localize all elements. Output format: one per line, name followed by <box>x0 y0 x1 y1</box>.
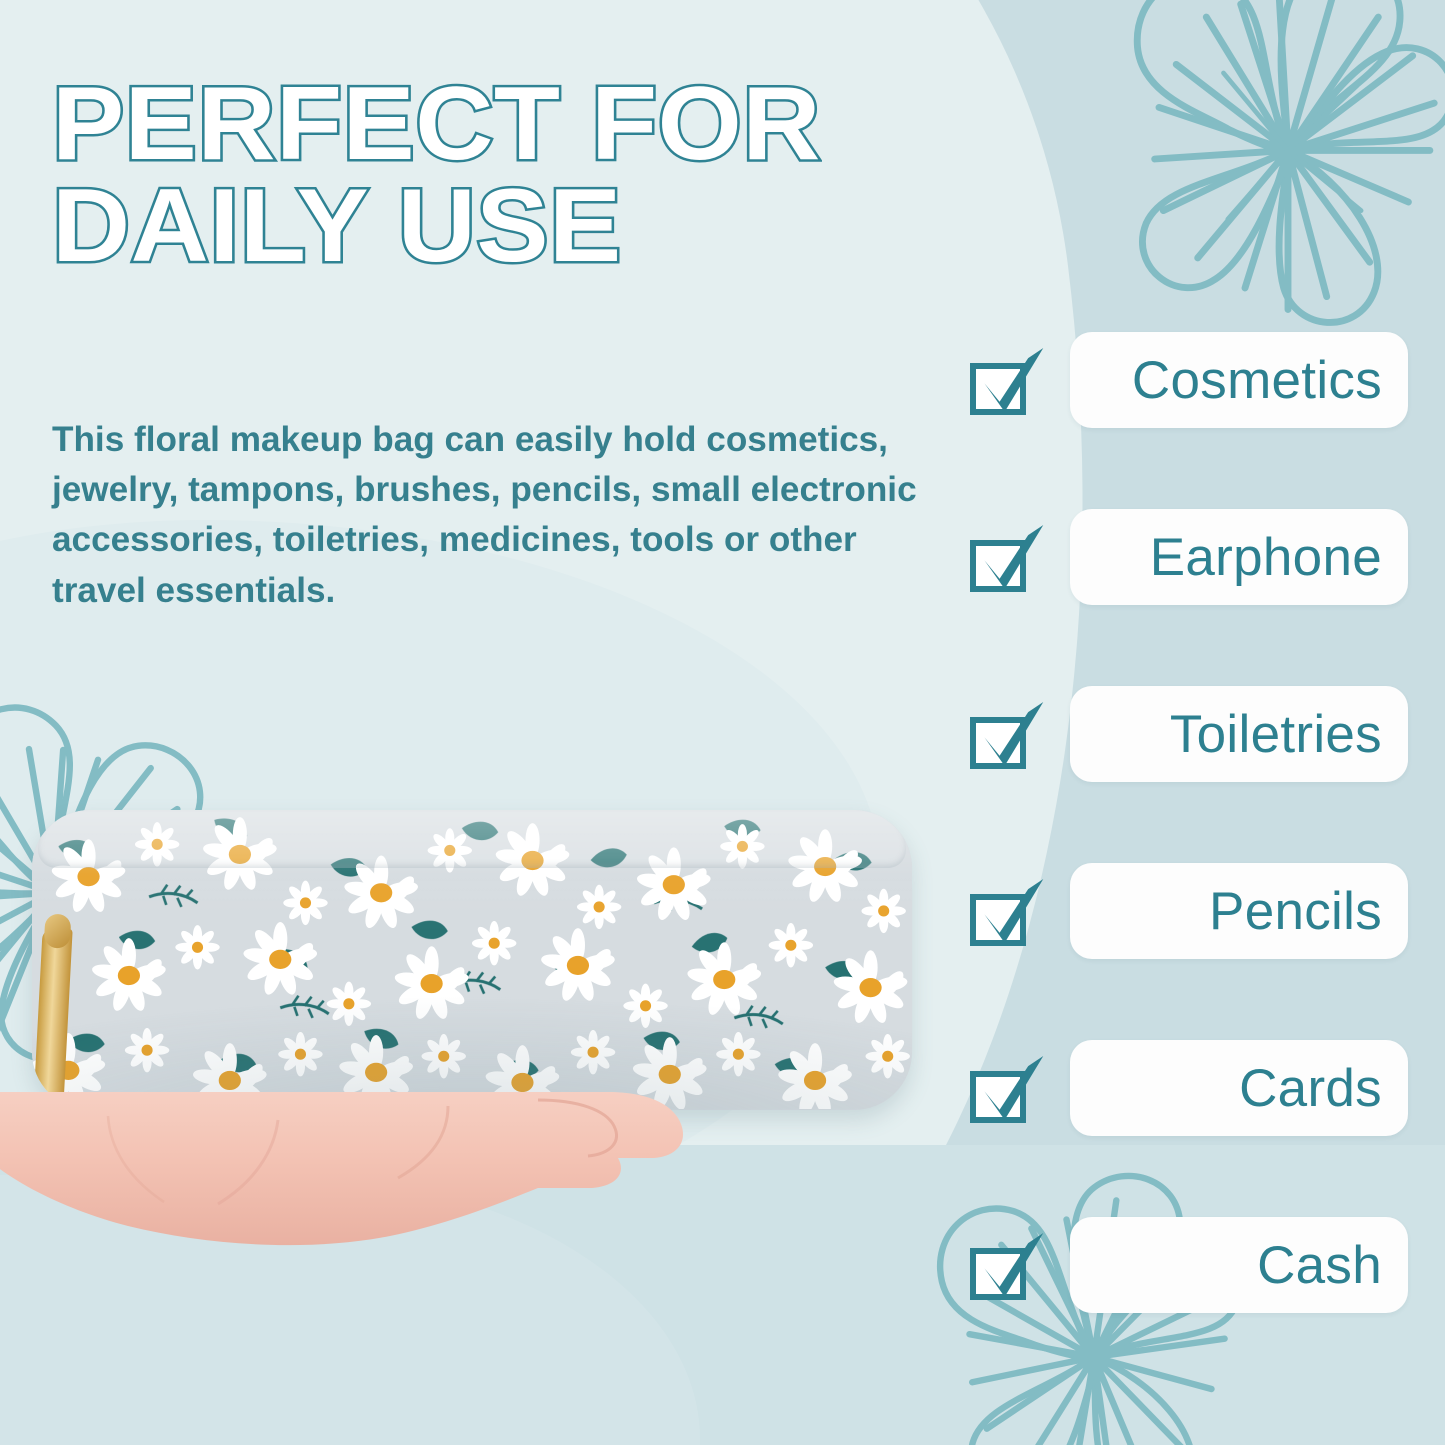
feature-pill[interactable]: Cards <box>1070 1040 1408 1136</box>
feature-pill[interactable]: Cosmetics <box>1070 332 1408 428</box>
hand-holding-bag <box>0 1086 768 1336</box>
list-item-label: Cosmetics <box>1132 354 1382 407</box>
feature-pill[interactable]: Toiletries <box>1070 686 1408 782</box>
checkbox-checked-icon[interactable] <box>968 1057 1034 1123</box>
checkbox-checked-icon[interactable] <box>968 526 1034 592</box>
list-item-label: Earphone <box>1150 531 1382 584</box>
list-item[interactable]: Toiletries <box>968 686 1408 782</box>
daisy-pattern <box>32 810 912 1109</box>
makeup-bag-image <box>32 810 912 1110</box>
description-paragraph: This floral makeup bag can easily hold c… <box>52 414 948 616</box>
list-item[interactable]: Cash <box>968 1217 1408 1313</box>
product-photo <box>14 786 934 1426</box>
page-title: PERFECT FOR DAILY USE <box>52 74 1019 278</box>
list-item[interactable]: Cards <box>968 1040 1408 1136</box>
feature-pill[interactable]: Earphone <box>1070 509 1408 605</box>
checkbox-checked-icon[interactable] <box>968 703 1034 769</box>
list-item[interactable]: Earphone <box>968 509 1408 605</box>
list-item[interactable]: Pencils <box>968 863 1408 959</box>
list-item-label: Cash <box>1257 1239 1382 1292</box>
infographic-canvas: PERFECT FOR DAILY USE This floral makeup… <box>0 0 1445 1445</box>
checkbox-checked-icon[interactable] <box>968 1234 1034 1300</box>
list-item-label: Cards <box>1239 1062 1382 1115</box>
list-item-label: Pencils <box>1209 885 1382 938</box>
feature-checklist: Cosmetics Earphone Toiletries <box>968 332 1408 1313</box>
checkbox-checked-icon[interactable] <box>968 880 1034 946</box>
checkbox-checked-icon[interactable] <box>968 349 1034 415</box>
feature-pill[interactable]: Cash <box>1070 1217 1408 1313</box>
list-item[interactable]: Cosmetics <box>968 332 1408 428</box>
feature-pill[interactable]: Pencils <box>1070 863 1408 959</box>
list-item-label: Toiletries <box>1170 708 1382 761</box>
